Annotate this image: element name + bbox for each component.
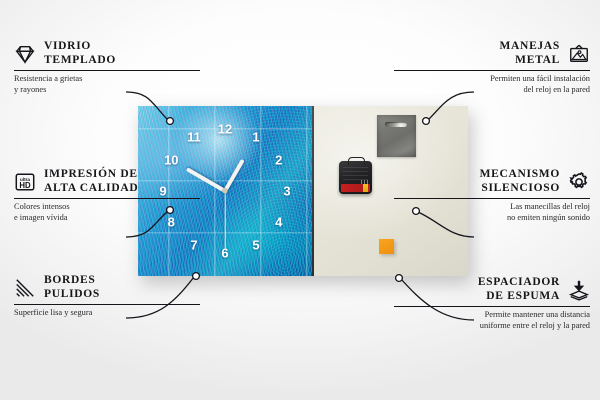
clock-mechanism-box xyxy=(339,161,372,194)
callout-title-line-1: ESPACIADOR xyxy=(478,276,560,290)
callout-rule xyxy=(394,306,590,307)
callout-desc-line-1: Superficie lisa y segura xyxy=(14,308,200,319)
clock-numeral-5: 5 xyxy=(252,238,259,251)
callout-espaciador-espuma: ESPACIADOR DE ESPUMA Permite mantener un… xyxy=(394,276,590,331)
clock-second-hand xyxy=(224,191,225,249)
callout-rule xyxy=(14,198,200,199)
callout-title-line-1: IMPRESIÓN DE xyxy=(44,168,138,182)
callout-title-line-1: VIDRIO xyxy=(44,40,116,54)
metal-hanger-plate xyxy=(377,115,416,157)
foam-spacer-icon xyxy=(568,279,590,301)
mechanism-vents xyxy=(343,167,368,180)
clock-numeral-3: 3 xyxy=(283,185,290,198)
callout-rule xyxy=(394,198,590,199)
infographic-stage: 121234567891011 xyxy=(0,0,600,400)
diagonal-lines-icon xyxy=(14,277,36,299)
callout-title-line-1: BORDES xyxy=(44,274,100,288)
callout-title-line-2: SILENCIOSO xyxy=(481,182,560,196)
clock-numeral-1: 1 xyxy=(252,131,259,144)
callout-title-line-1: MECANISMO xyxy=(480,168,560,182)
hanger-keyhole-slot xyxy=(385,122,407,127)
clock-numeral-7: 7 xyxy=(190,238,197,251)
clock-center-cap xyxy=(223,189,228,194)
callout-desc-line-2: del reloj en la pared xyxy=(394,85,590,96)
callout-title-line-2: ALTA CALIDAD xyxy=(44,182,138,196)
clock-numeral-2: 2 xyxy=(275,154,282,167)
callout-desc-line-2: uniforme entre el reloj y la pared xyxy=(394,321,590,332)
mechanism-hook xyxy=(348,157,365,165)
ultra-hd-icon: ultra HD xyxy=(14,171,36,193)
callout-manejas-metal: MANEJAS METAL Permiten una fácil instala… xyxy=(394,40,590,95)
callout-impresion-alta-calidad: ultra HD IMPRESIÓN DE ALTA CALIDAD Color… xyxy=(14,168,200,223)
callout-rule xyxy=(394,70,590,71)
clock-numeral-11: 11 xyxy=(187,131,201,144)
callout-vidrio-templado: VIDRIO TEMPLADO Resistencia a grietas y … xyxy=(14,40,200,95)
gear-icon xyxy=(568,171,590,193)
callout-bordes-pulidos: BORDES PULIDOS Superficie lisa y segura xyxy=(14,274,200,319)
callout-title-line-2: PULIDOS xyxy=(44,288,100,302)
panel-edge-seam xyxy=(312,106,314,276)
clock-hour-hand xyxy=(223,159,244,192)
callout-title-line-2: DE ESPUMA xyxy=(486,290,560,304)
ultra-hd-icon-large-text: HD xyxy=(19,180,31,189)
picture-frame-icon xyxy=(568,43,590,65)
mechanism-label xyxy=(341,184,370,192)
callout-rule xyxy=(14,70,200,71)
callout-desc-line-1: Resistencia a grietas xyxy=(14,74,200,85)
clock-numeral-10: 10 xyxy=(164,154,178,167)
diamond-icon xyxy=(14,43,36,65)
clock-numeral-12: 12 xyxy=(218,123,232,136)
callout-desc-line-2: no emiten ningún sonido xyxy=(394,213,590,224)
foam-spacer-square xyxy=(379,239,394,254)
callout-title-line-1: MANEJAS xyxy=(500,40,561,54)
clock-numeral-4: 4 xyxy=(275,216,282,229)
callout-desc-line-1: Colores intensos xyxy=(14,202,200,213)
callout-desc-line-2: y rayones xyxy=(14,85,200,96)
callout-title-line-2: TEMPLADO xyxy=(44,54,116,68)
callout-rule xyxy=(14,304,200,305)
callout-desc-line-1: Permiten una fácil instalación xyxy=(394,74,590,85)
callout-mecanismo-silencioso: MECANISMO SILENCIOSO Las manecillas del … xyxy=(394,168,590,223)
callout-desc-line-2: e imagen vívida xyxy=(14,213,200,224)
callout-title-line-2: METAL xyxy=(515,54,560,68)
callout-desc-line-1: Las manecillas del reloj xyxy=(394,202,590,213)
callout-desc-line-1: Permite mantener una distancia xyxy=(394,310,590,321)
